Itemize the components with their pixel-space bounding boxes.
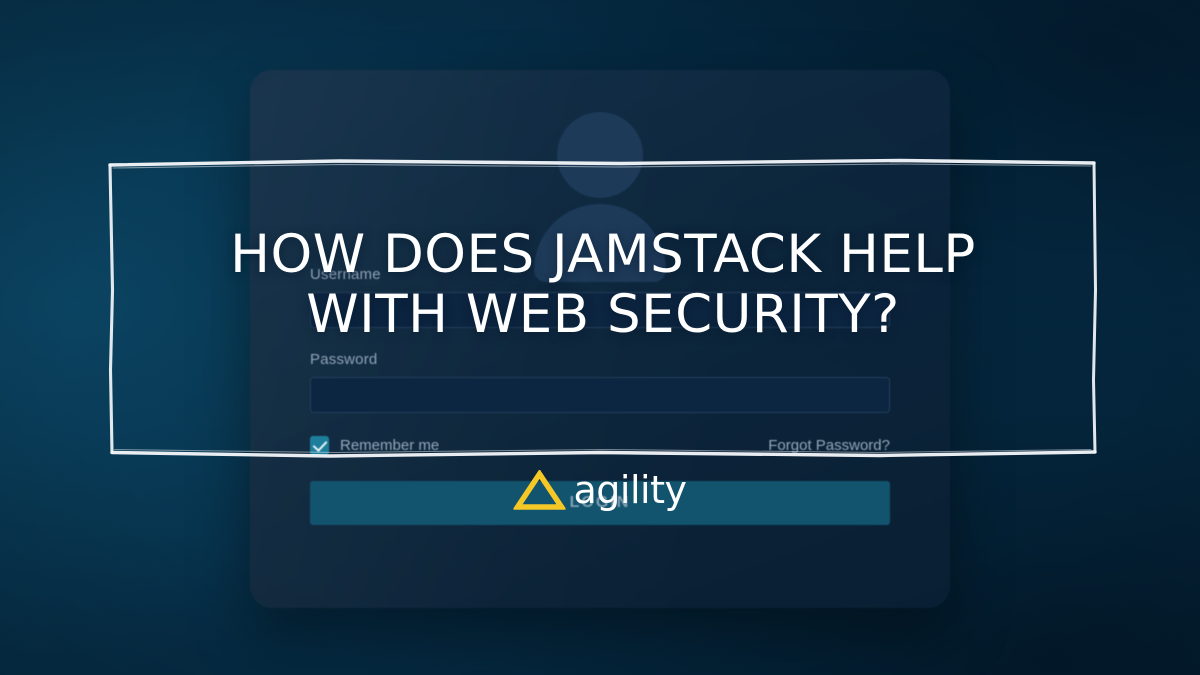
page-title: HOW DOES JAMSTACK HELP WITH WEB SECURITY… — [108, 225, 1098, 345]
triangle-logo-icon — [514, 470, 566, 510]
agility-wordmark: agility — [574, 471, 687, 509]
page-title-line-2: WITH WEB SECURITY? — [108, 285, 1098, 345]
page-title-line-1: HOW DOES JAMSTACK HELP — [108, 225, 1098, 285]
agility-logo: agility — [514, 470, 687, 510]
